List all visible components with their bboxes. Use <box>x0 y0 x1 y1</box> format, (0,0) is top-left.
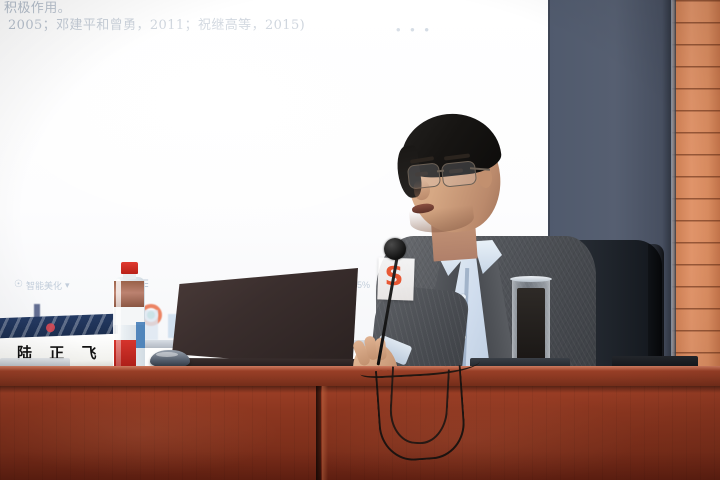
slide-text-line-1: 积极作用。 <box>4 0 334 17</box>
bottle-highlight <box>116 279 121 371</box>
tea-liquid <box>517 288 545 366</box>
bottle-cap <box>121 262 138 274</box>
laptop-lid <box>172 268 358 368</box>
beautify-label: 智能美化 <box>26 279 62 292</box>
mouse-highlight <box>156 352 178 357</box>
water-bottle <box>112 262 146 374</box>
slide-ellipsis: • • • <box>396 22 432 37</box>
bottle-label-blue <box>136 322 145 348</box>
cup-rim <box>510 276 552 282</box>
desk-panel-seam <box>316 386 321 480</box>
beautify-tool[interactable]: ☉ 智能美化 ▾ <box>14 279 70 292</box>
microphone-head <box>384 238 406 260</box>
lecture-photo-scene: 积极作用。 2005；邓建平和曾勇，2011；祝继高等，2015) • • • … <box>0 0 720 480</box>
eyeglasses-lens-right <box>441 160 477 187</box>
desk-wood-grain <box>0 386 720 480</box>
slide-text-line-2: 2005；邓建平和曾勇，2011；祝继高等，2015) <box>4 17 334 34</box>
sparkle-icon: ☉ <box>14 280 23 290</box>
wood-slat-wall <box>672 0 720 386</box>
desk-panel-seam-highlight <box>322 386 328 480</box>
desk-ledge-shadow <box>0 386 720 393</box>
slide-body-text: 积极作用。 2005；邓建平和曾勇，2011；祝继高等，2015) <box>4 0 334 34</box>
chevron-down-icon: ▾ <box>65 280 70 291</box>
